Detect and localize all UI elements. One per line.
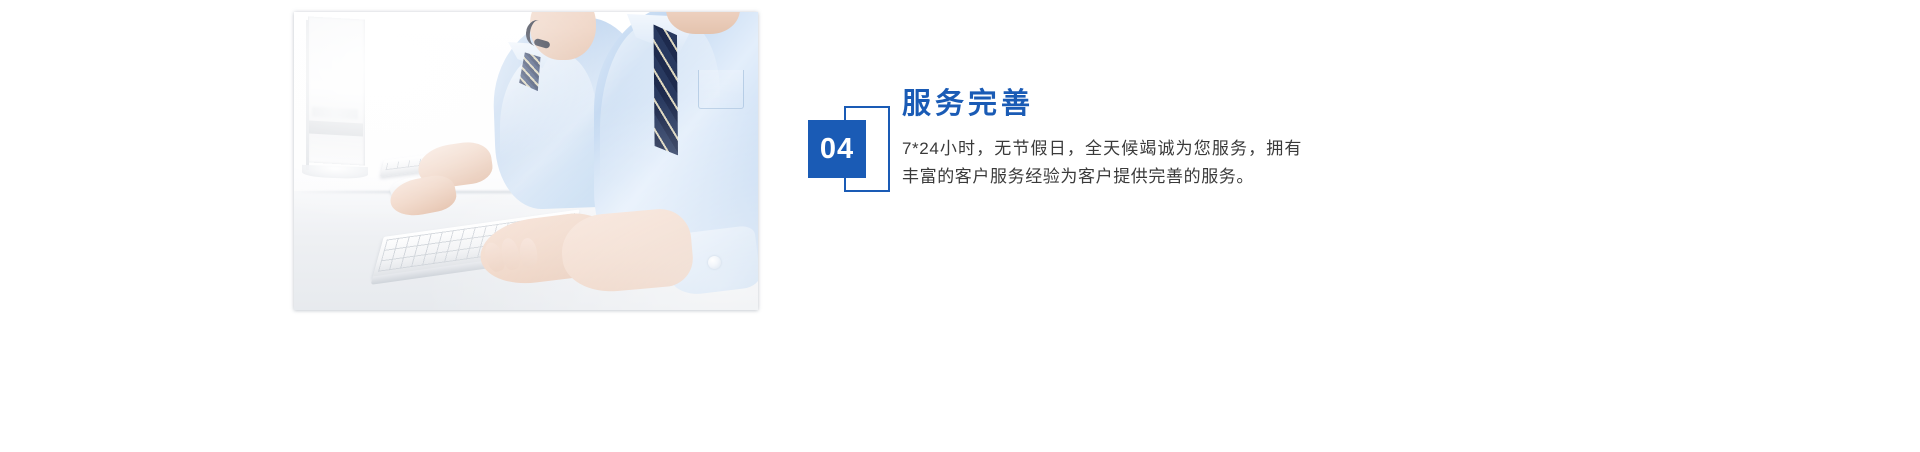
feature-content: 04 服务完善 7*24小时，无节假日，全天候竭诚为您服务，拥有丰富的客户服务经…	[808, 88, 1428, 248]
step-badge: 04	[808, 106, 890, 192]
shirt-button-icon	[708, 256, 721, 269]
photo-canvas	[294, 12, 758, 310]
feature-text-column: 服务完善 7*24小时，无节假日，全天候竭诚为您服务，拥有丰富的客户服务经验为客…	[902, 88, 1322, 190]
monitor-screen	[308, 16, 365, 165]
monitor-bezel	[306, 20, 309, 170]
badge-filled-square: 04	[808, 120, 866, 178]
service-feature-banner: 04 服务完善 7*24小时，无节假日，全天候竭诚为您服务，拥有丰富的客户服务经…	[0, 0, 1920, 452]
feature-heading: 服务完善	[902, 88, 1322, 121]
agent-back-highlight	[500, 52, 596, 202]
agent-front-shirt-pocket	[698, 70, 744, 109]
badge-number: 04	[820, 135, 854, 164]
monitor-stand	[302, 165, 368, 179]
feature-description: 7*24小时，无节假日，全天候竭诚为您服务，拥有丰富的客户服务经验为客户提供完善…	[902, 135, 1302, 190]
customer-service-photo	[294, 12, 758, 310]
computer-monitor-icon	[300, 18, 366, 178]
